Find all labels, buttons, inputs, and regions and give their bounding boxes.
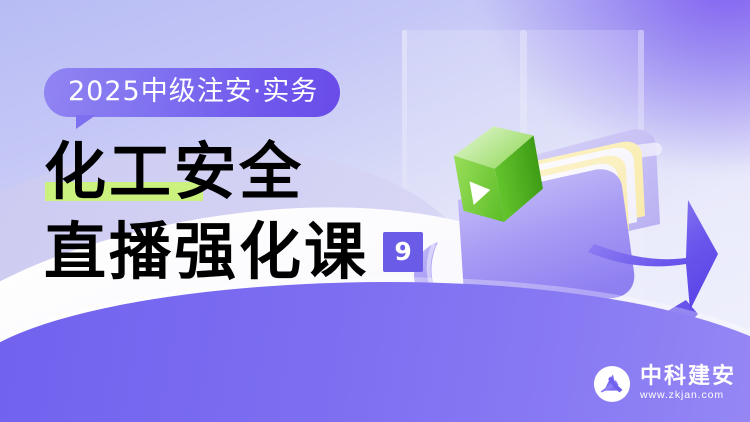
brand-website: www.zkjan.com bbox=[640, 388, 736, 404]
course-banner: 2025中级注安·实务 化工安全 直播强化课 9 中科建安 www.zkjan.… bbox=[0, 0, 750, 422]
course-badge: 2025中级注安·实务 bbox=[44, 68, 340, 117]
brand-name: 中科建安 bbox=[640, 365, 736, 389]
logo-text-group: 中科建安 www.zkjan.com bbox=[640, 365, 736, 405]
text-content: 2025中级注安·实务 化工安全 直播强化课 9 bbox=[44, 68, 474, 283]
title-line-2-text: 直播强化课 bbox=[44, 221, 369, 283]
zkjan-logo-icon bbox=[593, 365, 631, 403]
course-badge-label: 2025中级注安·实务 bbox=[44, 68, 340, 117]
badge-tail bbox=[76, 115, 96, 129]
title-line-1: 化工安全 bbox=[44, 141, 474, 203]
episode-number-badge: 9 bbox=[383, 232, 423, 272]
title-line-1-text: 化工安全 bbox=[44, 135, 304, 208]
title-line-2: 直播强化课 9 bbox=[44, 221, 474, 283]
brand-logo: 中科建安 www.zkjan.com bbox=[593, 365, 736, 405]
